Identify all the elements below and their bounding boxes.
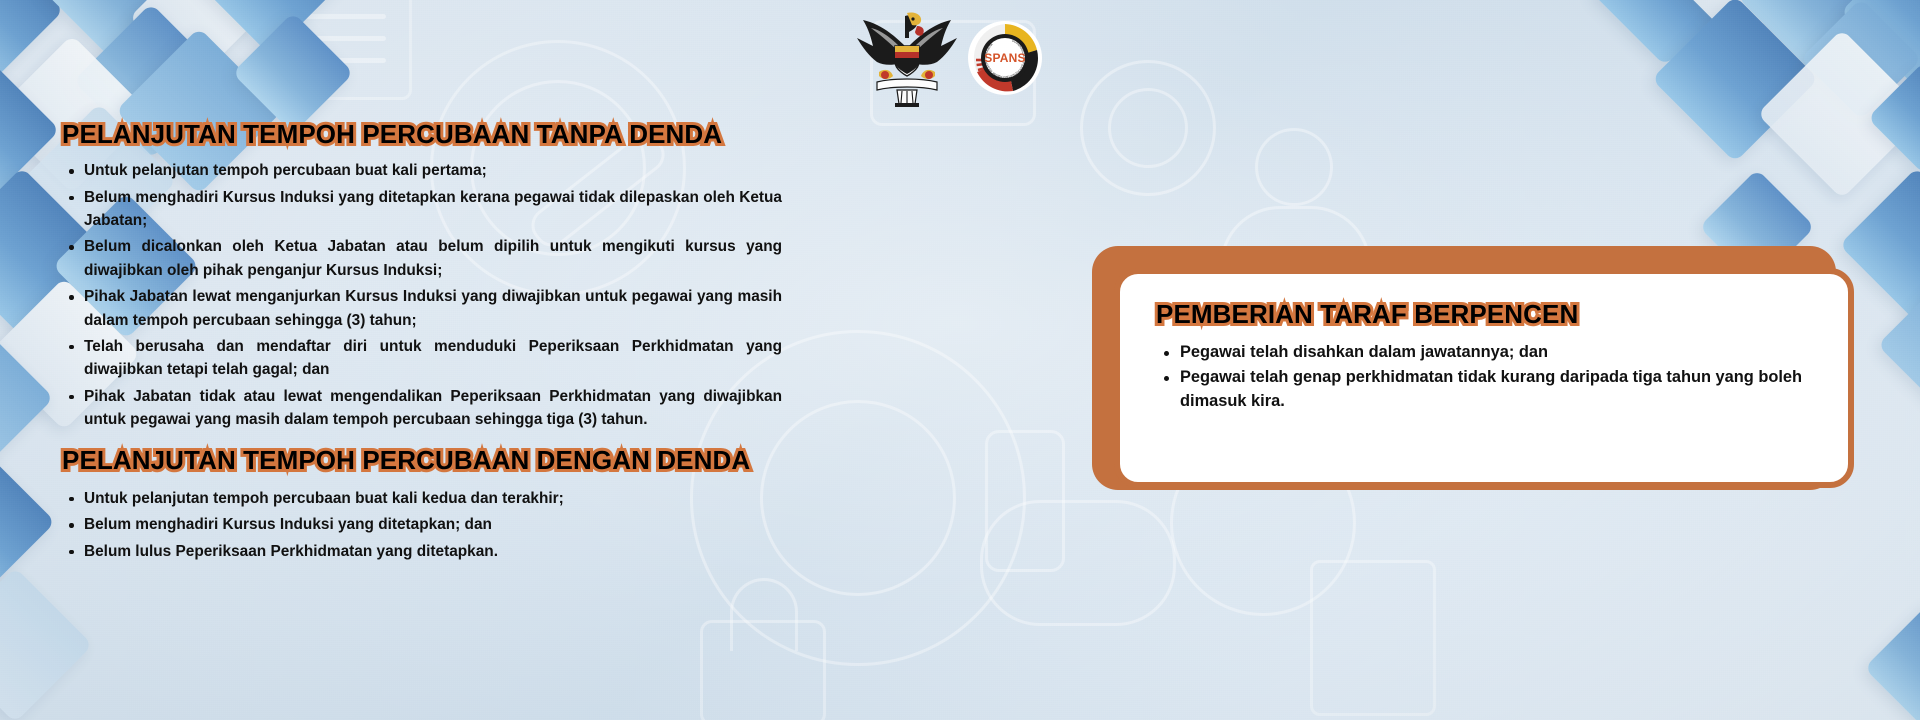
diamond [1669,0,1810,47]
cloud-icon [980,500,1176,626]
left-content-column: PELANJUTAN TEMPOH PERCUBAAN TANPA DENDA … [62,120,782,566]
list-item: Pegawai telah disahkan dalam jawatannya;… [1156,341,1818,365]
list-item: Pihak Jabatan tidak atau lewat mengendal… [62,385,782,432]
diamond [1800,0,1920,120]
wifi-inner-icon [1108,88,1188,168]
list-item: Belum dicalonkan oleh Ketua Jabatan atau… [62,235,782,282]
sarawak-coat-of-arms-icon [855,8,959,108]
diamond [0,62,60,198]
padlock-shackle-icon [730,578,798,651]
diamond [1652,0,1819,162]
list-item: Pegawai telah genap perkhidmatan tidak k… [1156,366,1818,414]
panel-bullet-list: Pegawai telah disahkan dalam jawatannya;… [1156,341,1818,413]
pension-status-panel: PEMBERIAN TARAF BERPENCEN Pegawai telah … [1092,246,1852,508]
diamond [0,567,93,720]
server-rack-icon [288,0,412,100]
server-line-3-icon [306,58,386,63]
list-item: Belum menghadiri Kursus Induksi yang dit… [62,186,782,233]
section2-heading: PELANJUTAN TEMPOH PERCUBAAN DENGAN DENDA [62,446,782,475]
server-line-1-icon [306,14,386,19]
diamond [1840,0,1920,86]
wifi-icon [1080,60,1216,196]
document-icon [1310,560,1436,716]
section1-heading: PELANJUTAN TEMPOH PERCUBAAN TANPA DENDA [62,120,782,149]
panel-heading: PEMBERIAN TARAF BERPENCEN [1156,300,1818,329]
diamond [1757,29,1920,199]
svg-text:SPANS: SPANS [984,51,1025,65]
diamond [1867,61,1920,174]
poster-canvas: SURUHANJAYA PERKHIDMATAN AWAM NEGERI SAR… [0,0,1920,720]
diamond [40,0,187,62]
list-item: Belum lulus Peperiksaan Perkhidmatan yan… [62,540,782,563]
list-item: Belum menghadiri Kursus Induksi yang dit… [62,513,782,536]
diamond [191,0,349,55]
section1-bullet-list: Untuk pelanjutan tempoh percubaan buat k… [62,159,782,431]
panel-card: PEMBERIAN TARAF BERPENCEN Pegawai telah … [1114,268,1854,488]
section2-bullet-list: Untuk pelanjutan tempoh percubaan buat k… [62,487,782,563]
user-head-icon [1255,128,1333,206]
diamond [232,12,354,134]
list-item: Untuk pelanjutan tempoh percubaan buat k… [62,487,782,510]
diamond [1590,0,1740,66]
mobile-icon [985,430,1065,572]
list-item: Pihak Jabatan lewat menganjurkan Kursus … [62,285,782,332]
logo-group: SURUHANJAYA PERKHIDMATAN AWAM NEGERI SAR… [855,6,1075,110]
list-item: Untuk pelanjutan tempoh percubaan buat k… [62,159,782,182]
diamond [1877,281,1920,408]
diamond [0,448,56,595]
diamond [129,0,259,83]
padlock-body-icon [700,620,826,720]
spans-logo-icon: SURUHANJAYA PERKHIDMATAN AWAM NEGERI SAR… [967,20,1043,96]
diamond [0,330,54,466]
diamond [1864,600,1920,720]
server-line-2-icon [306,36,386,41]
large-gear-inner-icon [760,400,956,596]
diamond [1737,0,1893,75]
list-item: Telah berusaha dan mendaftar diri untuk … [62,335,782,382]
diamond [0,0,64,78]
